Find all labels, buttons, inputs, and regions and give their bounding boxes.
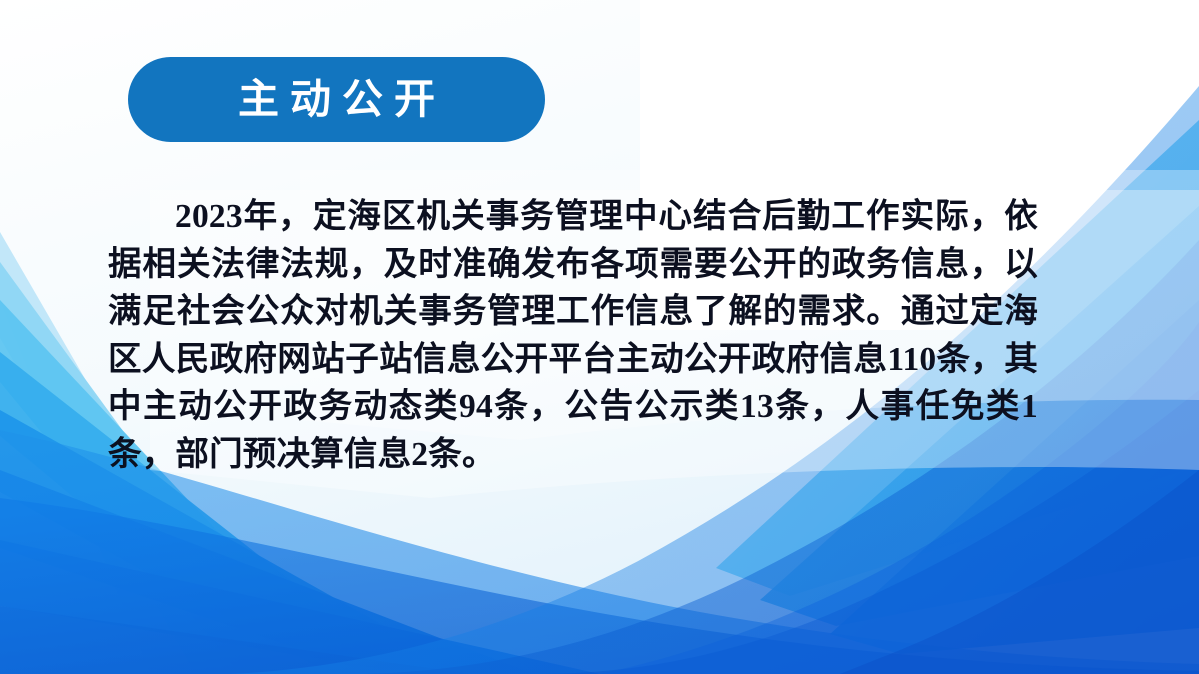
body-text-block: 2023年，定海区机关事务管理中心结合后勤工作实际，依据相关法律法规，及时准确发… (108, 193, 1038, 478)
title-badge: 主动公开 (128, 57, 545, 142)
title-badge-label: 主动公开 (227, 79, 446, 120)
body-paragraph: 2023年，定海区机关事务管理中心结合后勤工作实际，依据相关法律法规，及时准确发… (108, 193, 1038, 478)
slide-canvas: 主动公开 2023年，定海区机关事务管理中心结合后勤工作实际，依据相关法律法规，… (0, 0, 1199, 674)
